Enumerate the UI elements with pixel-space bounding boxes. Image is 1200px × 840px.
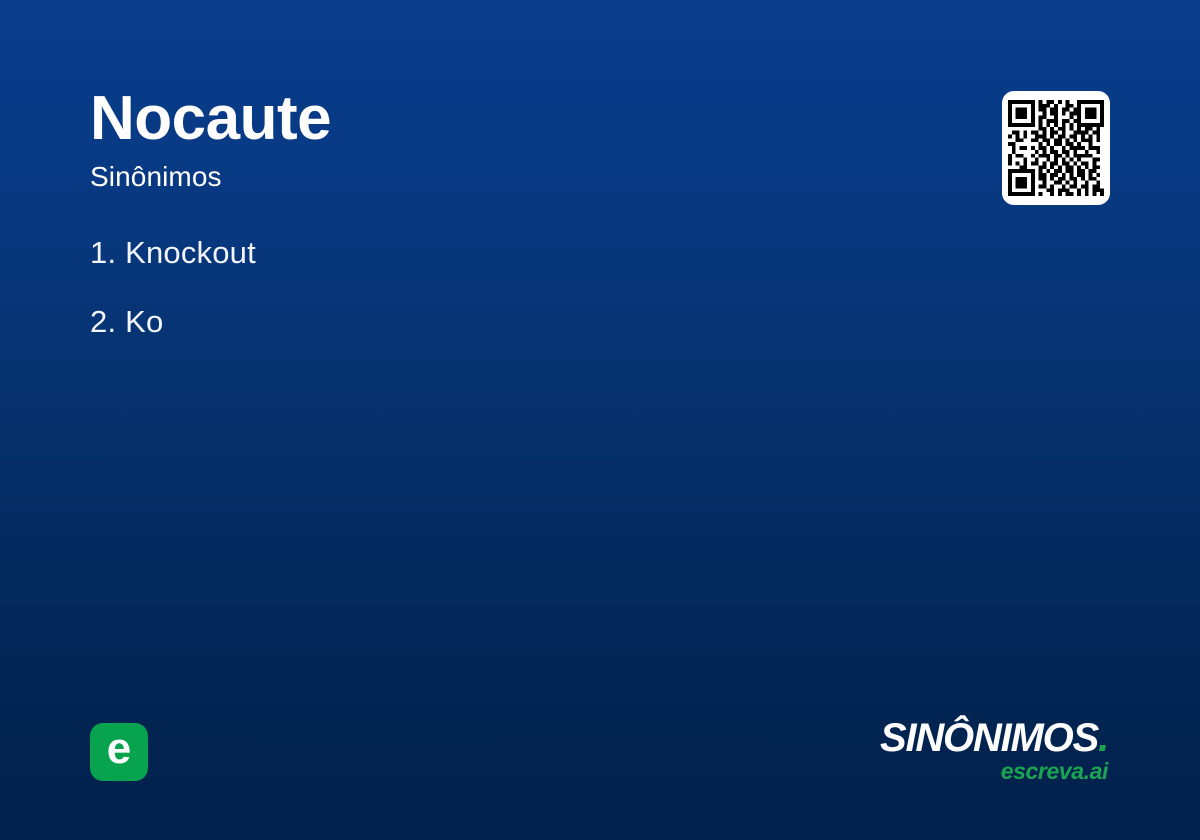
brand-badge-letter: e <box>107 727 131 771</box>
logo-wordmark: SINÔNIMOS. <box>880 718 1108 758</box>
logo-dot: . <box>1098 716 1108 760</box>
logo-tagline: escreva.ai <box>880 760 1108 783</box>
qr-code-icon <box>1008 98 1104 198</box>
qr-code-panel[interactable] <box>1002 91 1110 205</box>
page-title: Nocaute <box>90 86 850 151</box>
page-subtitle: Sinônimos <box>90 161 850 193</box>
escreva-e-badge-icon[interactable]: e <box>90 723 148 781</box>
list-item: 2. Ko <box>90 305 910 340</box>
synonyms-list: 1. Knockout 2. Ko <box>90 236 910 339</box>
sinonimos-logo[interactable]: SINÔNIMOS. escreva.ai <box>880 718 1108 783</box>
headline-block: Nocaute Sinônimos <box>90 86 850 193</box>
synonym-card: Nocaute Sinônimos 1. Knockout 2. Ko <box>0 0 1200 840</box>
logo-wordmark-text: SINÔNIMOS <box>880 716 1098 760</box>
list-item: 1. Knockout <box>90 236 910 271</box>
